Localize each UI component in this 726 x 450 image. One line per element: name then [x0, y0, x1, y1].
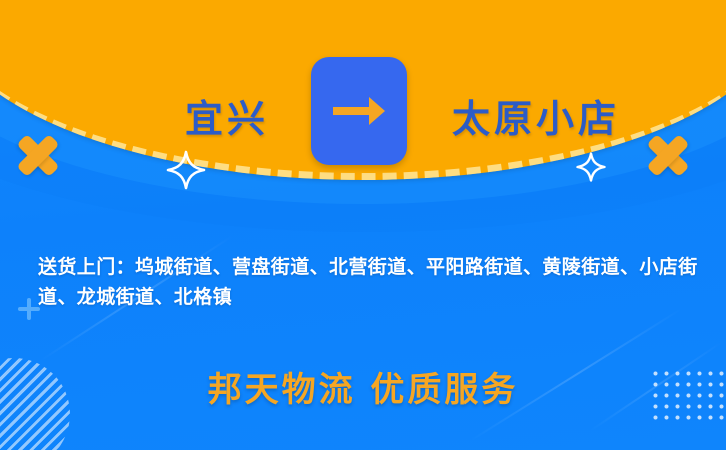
arrow-right-icon: [329, 89, 389, 133]
route-origin-label: 宜兴: [185, 96, 269, 142]
company-slogan: 邦天物流 优质服务: [0, 362, 726, 411]
plus-icon: [18, 298, 40, 320]
logistics-route-banner: 宜兴 太原小店 送货上门：坞城街道、营盘街道、北营街道、平阳路街道、黄陵街道、小…: [0, 0, 726, 450]
route-destination-label: 太原小店: [452, 96, 620, 142]
delivery-coverage-text: 送货上门：坞城街道、营盘街道、北营街道、平阳路街道、黄陵街道、小店街道、龙城街道…: [38, 252, 698, 312]
route-arrow-card: [311, 57, 407, 165]
